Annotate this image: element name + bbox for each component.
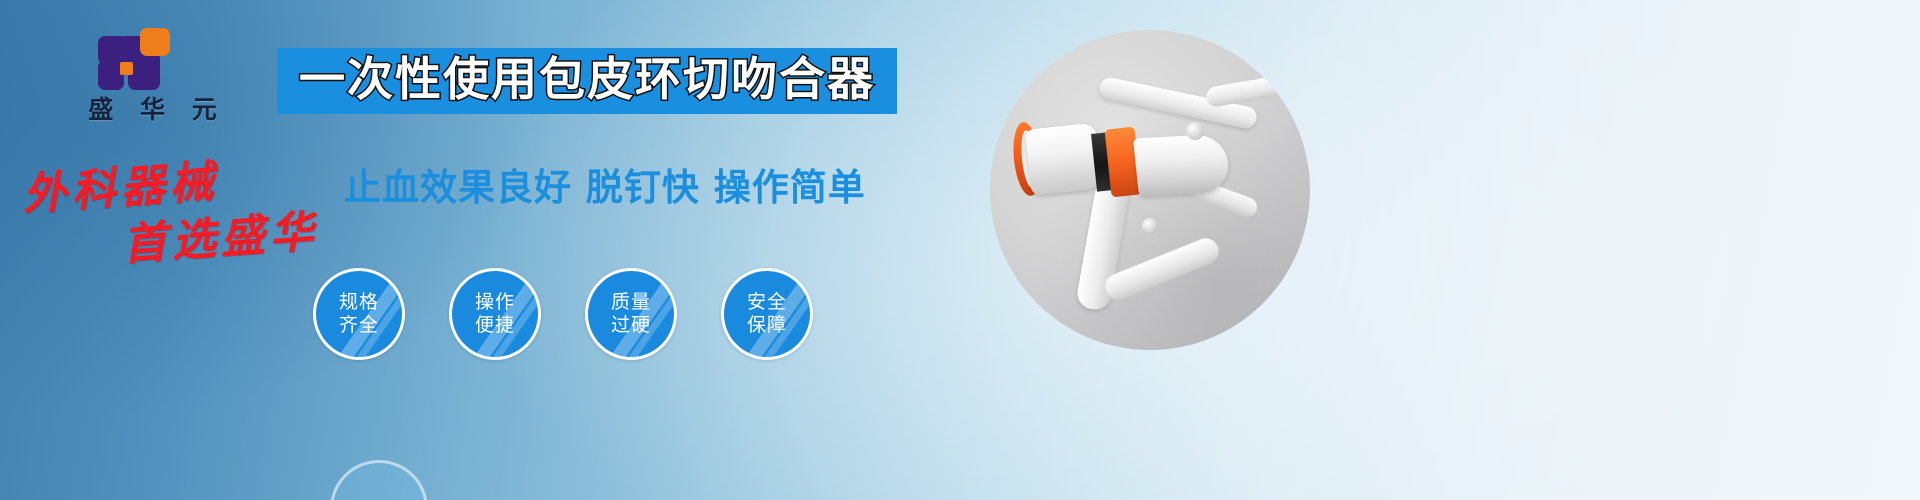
page-title: 一次性使用包皮环切吻合器 xyxy=(299,53,875,105)
badge-label-line2: 便捷 xyxy=(475,314,515,337)
shenghua-cube-logo-icon xyxy=(98,28,170,90)
badge-label-line1: 规格 xyxy=(339,291,379,314)
badge-label-line1: 操作 xyxy=(475,291,515,314)
stapler-pivot-bottom xyxy=(1142,218,1158,234)
feature-badge-quality[interactable]: 质量 过硬 xyxy=(585,268,677,360)
company-name: 盛 华 元 xyxy=(62,90,252,126)
feature-badge-safety[interactable]: 安全 保障 xyxy=(721,268,813,360)
feature-badge-operation[interactable]: 操作 便捷 xyxy=(449,268,541,360)
badge-label-line1: 安全 xyxy=(747,291,787,314)
feature-badge-specs[interactable]: 规格 齐全 xyxy=(313,268,405,360)
stapler-anvil-cone xyxy=(1133,134,1231,197)
badge-label-line1: 质量 xyxy=(611,291,651,314)
feature-badge-list: 规格 齐全 操作 便捷 质量 过硬 安全 保障 xyxy=(313,268,813,360)
brand-logo-block[interactable]: 盛 华 元 xyxy=(62,28,252,124)
headline-title-box: 一次性使用包皮环切吻合器 xyxy=(277,48,897,114)
calligraphy-line-2: 首选盛华 xyxy=(120,195,320,273)
promo-banner: 盛 华 元 一次性使用包皮环切吻合器 外科器械 首选盛华 止血效果良好 脱钉快 … xyxy=(0,0,1920,500)
badge-label-line2: 过硬 xyxy=(611,314,651,337)
decorative-arc xyxy=(330,460,428,500)
badge-label-line2: 保障 xyxy=(747,314,787,337)
logo-notch-orange xyxy=(120,62,133,75)
stapler-pivot-top xyxy=(1186,122,1204,140)
badge-label-line2: 齐全 xyxy=(339,314,379,337)
subtitle-text: 止血效果良好 脱钉快 操作简单 xyxy=(344,166,866,210)
logo-square-orange xyxy=(140,28,170,56)
product-photo[interactable] xyxy=(990,30,1310,350)
